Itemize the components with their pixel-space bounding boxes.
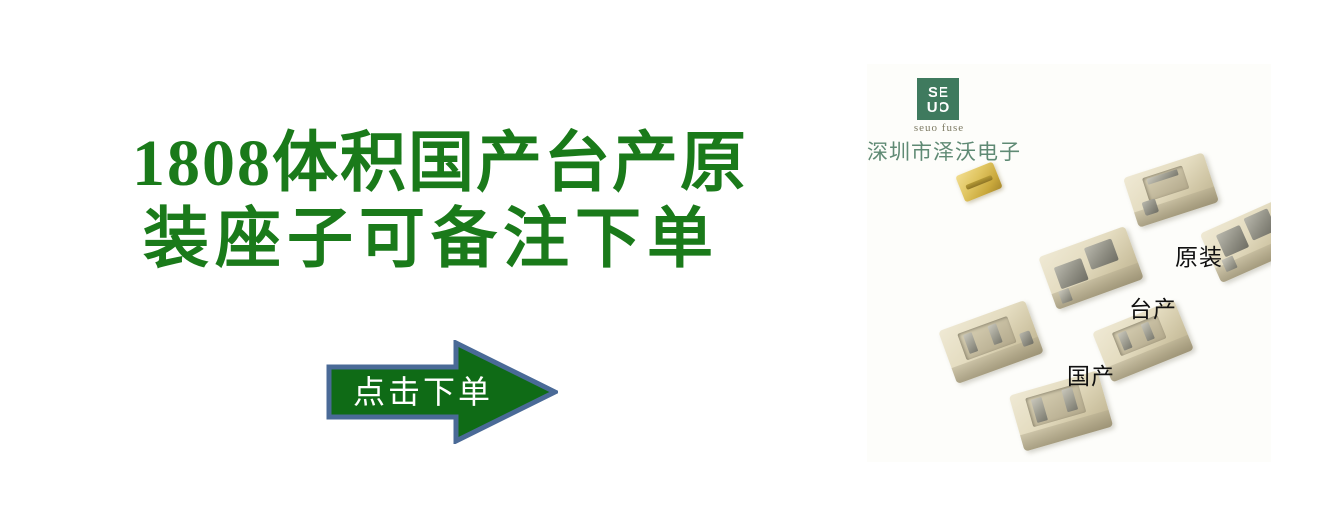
promo-banner: 1808体积国产台产原 装座子可备注下单 点击下单 SE UO seuo fus…: [0, 0, 1317, 523]
order-now-button[interactable]: 点击下单: [326, 340, 558, 444]
logo-divider-horizontal: [922, 98, 954, 101]
fuse-holder-1: [1123, 152, 1219, 227]
product-photo: SE UO seuo fuse 深圳市泽沃电子: [867, 64, 1271, 462]
arrow-right-icon[interactable]: [326, 340, 558, 444]
label-taiwan-made: 台产: [1129, 290, 1177, 324]
headline-line-2: 装座子可备注下单: [60, 202, 820, 278]
fuse-holder-3: [1038, 226, 1144, 310]
label-original: 原装: [1175, 238, 1223, 272]
seuo-logo-icon: SE UO: [917, 78, 959, 120]
headline-line-1: 1808体积国产台产原: [60, 126, 820, 202]
gold-clip-part: [955, 162, 1003, 203]
fuse-holder-4: [938, 300, 1044, 384]
label-domestic: 国产: [1067, 357, 1115, 391]
headline-block: 1808体积国产台产原 装座子可备注下单: [60, 126, 820, 278]
logo-company-name: 深圳市泽沃电子: [867, 136, 1017, 166]
logo-tagline: seuo fuse: [885, 122, 993, 134]
